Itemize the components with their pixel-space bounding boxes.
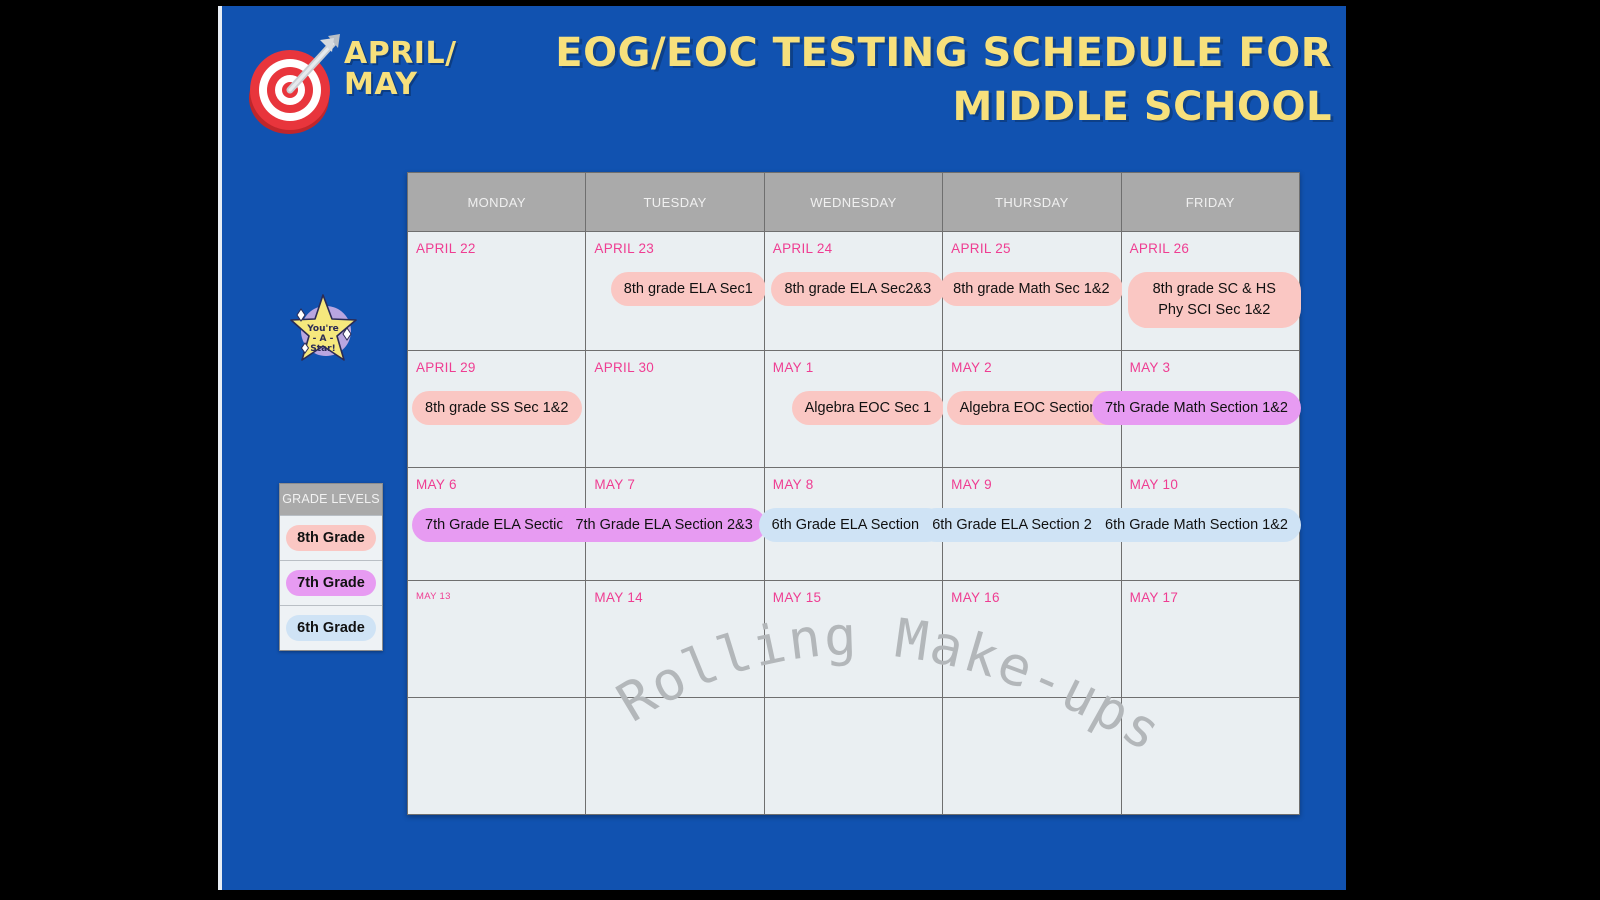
calendar-day-cell[interactable]: MAY 77th Grade ELA Section 2&3 (586, 468, 764, 581)
month-label-line1: APRIL/ (344, 38, 457, 69)
calendar-day-number: MAY 14 (586, 581, 763, 605)
calendar-day-cell[interactable] (764, 698, 942, 815)
calendar-event-container: 8th grade SS Sec 1&2 (412, 391, 579, 425)
calendar-event-container: 8th grade ELA Sec1 (592, 272, 765, 306)
calendar-body: APRIL 22APRIL 238th grade ELA Sec1APRIL … (408, 232, 1300, 815)
calendar-event-container: Algebra EOC Sec 1 (771, 391, 944, 425)
calendar-day-cell[interactable]: MAY 16 (943, 581, 1121, 698)
calendar-day-number: MAY 3 (1122, 351, 1299, 375)
calendar-event-container: 8th grade Math Sec 1&2 (949, 272, 1122, 306)
calendar-day-number: MAY 7 (586, 468, 763, 492)
calendar-week-row (408, 698, 1300, 815)
calendar-event-pill[interactable]: 7th Grade ELA Section 2&3 (562, 508, 765, 542)
calendar-day-number: APRIL 29 (408, 351, 585, 375)
calendar-day-number: APRIL 23 (586, 232, 763, 256)
calendar-day-cell[interactable]: APRIL 268th grade SC & HS Phy SCI Sec 1&… (1121, 232, 1299, 351)
target-dartboard-icon (242, 26, 342, 136)
calendar-column-header-tuesday: TUESDAY (586, 173, 764, 232)
legend-pill-grade-8: 8th Grade (286, 525, 376, 551)
calendar-event-pill[interactable]: 8th grade SC & HS Phy SCI Sec 1&2 (1128, 272, 1301, 328)
legend-body: 8th Grade7th Grade6th Grade (280, 515, 382, 650)
calendar-day-number: APRIL 25 (943, 232, 1120, 256)
calendar-day-cell[interactable]: MAY 17 (1121, 581, 1299, 698)
calendar-day-cell[interactable]: APRIL 238th grade ELA Sec1 (586, 232, 764, 351)
calendar-day-number: MAY 2 (943, 351, 1120, 375)
legend-pill-grade-6: 6th Grade (286, 615, 376, 641)
calendar-event-pill[interactable]: 7th Grade Math Section 1&2 (1092, 391, 1301, 425)
calendar-day-cell[interactable] (1121, 698, 1299, 815)
calendar-day-cell[interactable]: MAY 13 (408, 581, 586, 698)
calendar-day-cell[interactable]: MAY 37th Grade Math Section 1&2 (1121, 351, 1299, 468)
calendar-event-pill[interactable]: Algebra EOC Sec 1 (792, 391, 945, 425)
calendar-header-row: MONDAYTUESDAYWEDNESDAYTHURSDAYFRIDAY (408, 173, 1300, 232)
calendar-event-container: 7th Grade ELA Section 2&3 (592, 508, 765, 542)
calendar-column-header-monday: MONDAY (408, 173, 586, 232)
legend-header: GRADE LEVELS (280, 484, 382, 515)
calendar-day-cell[interactable]: MAY 67th Grade ELA Section 1 (408, 468, 586, 581)
calendar-column-header-friday: FRIDAY (1121, 173, 1299, 232)
calendar-week-row: APRIL 22APRIL 238th grade ELA Sec1APRIL … (408, 232, 1300, 351)
calendar-event-container: 8th grade SC & HS Phy SCI Sec 1&2 (1128, 272, 1301, 328)
calendar-event-container: 6th Grade ELA Section 1 (771, 508, 944, 542)
calendar-week-row: APRIL 298th grade SS Sec 1&2APRIL 30MAY … (408, 351, 1300, 468)
calendar: MONDAYTUESDAYWEDNESDAYTHURSDAYFRIDAY APR… (407, 172, 1300, 815)
calendar-day-number: MAY 16 (943, 581, 1120, 605)
calendar-day-cell[interactable]: MAY 15 (764, 581, 942, 698)
slide-screen: APRIL/ MAY EOG/EOC TESTING SCHEDULE FOR … (0, 0, 1600, 900)
legend-pill-grade-7: 7th Grade (286, 570, 376, 596)
calendar-day-number: MAY 13 (408, 581, 585, 602)
calendar-day-number: MAY 10 (1122, 468, 1299, 492)
calendar-day-cell[interactable]: APRIL 298th grade SS Sec 1&2 (408, 351, 586, 468)
calendar-event-pill[interactable]: 8th grade SS Sec 1&2 (412, 391, 582, 425)
calendar-day-cell[interactable]: APRIL 258th grade Math Sec 1&2 (943, 232, 1121, 351)
calendar-day-cell[interactable]: MAY 86th Grade ELA Section 1 (764, 468, 942, 581)
calendar-week-row: MAY 13MAY 14MAY 15MAY 16MAY 17 (408, 581, 1300, 698)
slide-canvas: APRIL/ MAY EOG/EOC TESTING SCHEDULE FOR … (218, 6, 1346, 890)
calendar-day-number: MAY 1 (765, 351, 942, 375)
calendar-day-cell[interactable]: APRIL 248th grade ELA Sec2&3 (764, 232, 942, 351)
calendar-event-pill[interactable]: 6th Grade ELA Section 1 (759, 508, 945, 542)
calendar-day-number: APRIL 24 (765, 232, 942, 256)
calendar-day-number: MAY 15 (765, 581, 942, 605)
calendar-event-container: 7th Grade ELA Section 1 (412, 508, 579, 542)
calendar-day-number: MAY 9 (943, 468, 1120, 492)
calendar-event-pill[interactable]: 8th grade ELA Sec1 (611, 272, 766, 306)
calendar-day-cell[interactable]: APRIL 22 (408, 232, 586, 351)
calendar-day-cell[interactable] (408, 698, 586, 815)
sticker-line1: You're (306, 324, 339, 334)
calendar-event-container: 8th grade ELA Sec2&3 (771, 272, 944, 306)
calendar-day-number: MAY 8 (765, 468, 942, 492)
calendar-event-pill[interactable]: 8th grade ELA Sec2&3 (771, 272, 944, 306)
calendar-day-cell[interactable]: MAY 106th Grade Math Section 1&2 (1121, 468, 1299, 581)
calendar-day-number: APRIL 30 (586, 351, 763, 375)
calendar-day-number: APRIL 22 (408, 232, 585, 256)
page-title: EOG/EOC TESTING SCHEDULE FOR MIDDLE SCHO… (552, 26, 1332, 134)
calendar-column-header-thursday: THURSDAY (943, 173, 1121, 232)
calendar-day-number: MAY 17 (1122, 581, 1299, 605)
calendar-event-container: 7th Grade Math Section 1&2 (1128, 391, 1301, 425)
legend-item-grade-7: 7th Grade (280, 560, 382, 605)
sticker-line3: Star! (310, 344, 335, 354)
calendar-table: MONDAYTUESDAYWEDNESDAYTHURSDAYFRIDAY APR… (407, 172, 1300, 815)
legend-item-grade-6: 6th Grade (280, 605, 382, 650)
sticker-line2: - A - (313, 334, 334, 344)
youre-a-star-sticker-icon: You're - A - Star! (290, 291, 358, 373)
legend-item-grade-8: 8th Grade (280, 515, 382, 560)
calendar-column-header-wednesday: WEDNESDAY (764, 173, 942, 232)
calendar-day-number: MAY 6 (408, 468, 585, 492)
month-label: APRIL/ MAY (344, 38, 457, 100)
calendar-day-cell[interactable]: MAY 14 (586, 581, 764, 698)
grade-levels-legend: GRADE LEVELS 8th Grade7th Grade6th Grade (279, 483, 383, 651)
calendar-day-number: APRIL 26 (1122, 232, 1299, 256)
calendar-event-pill[interactable]: 8th grade Math Sec 1&2 (940, 272, 1122, 306)
calendar-event-container: 6th Grade Math Section 1&2 (1128, 508, 1301, 542)
page-title-line2: MIDDLE SCHOOL (552, 80, 1332, 134)
calendar-day-cell[interactable]: APRIL 30 (586, 351, 764, 468)
calendar-day-cell[interactable] (586, 698, 764, 815)
month-label-line2: MAY (344, 69, 457, 100)
calendar-day-cell[interactable] (943, 698, 1121, 815)
calendar-week-row: MAY 67th Grade ELA Section 1MAY 77th Gra… (408, 468, 1300, 581)
calendar-event-pill[interactable]: 6th Grade Math Section 1&2 (1092, 508, 1301, 542)
calendar-day-cell[interactable]: MAY 1Algebra EOC Sec 1 (764, 351, 942, 468)
page-title-line1: EOG/EOC TESTING SCHEDULE FOR (552, 26, 1332, 80)
